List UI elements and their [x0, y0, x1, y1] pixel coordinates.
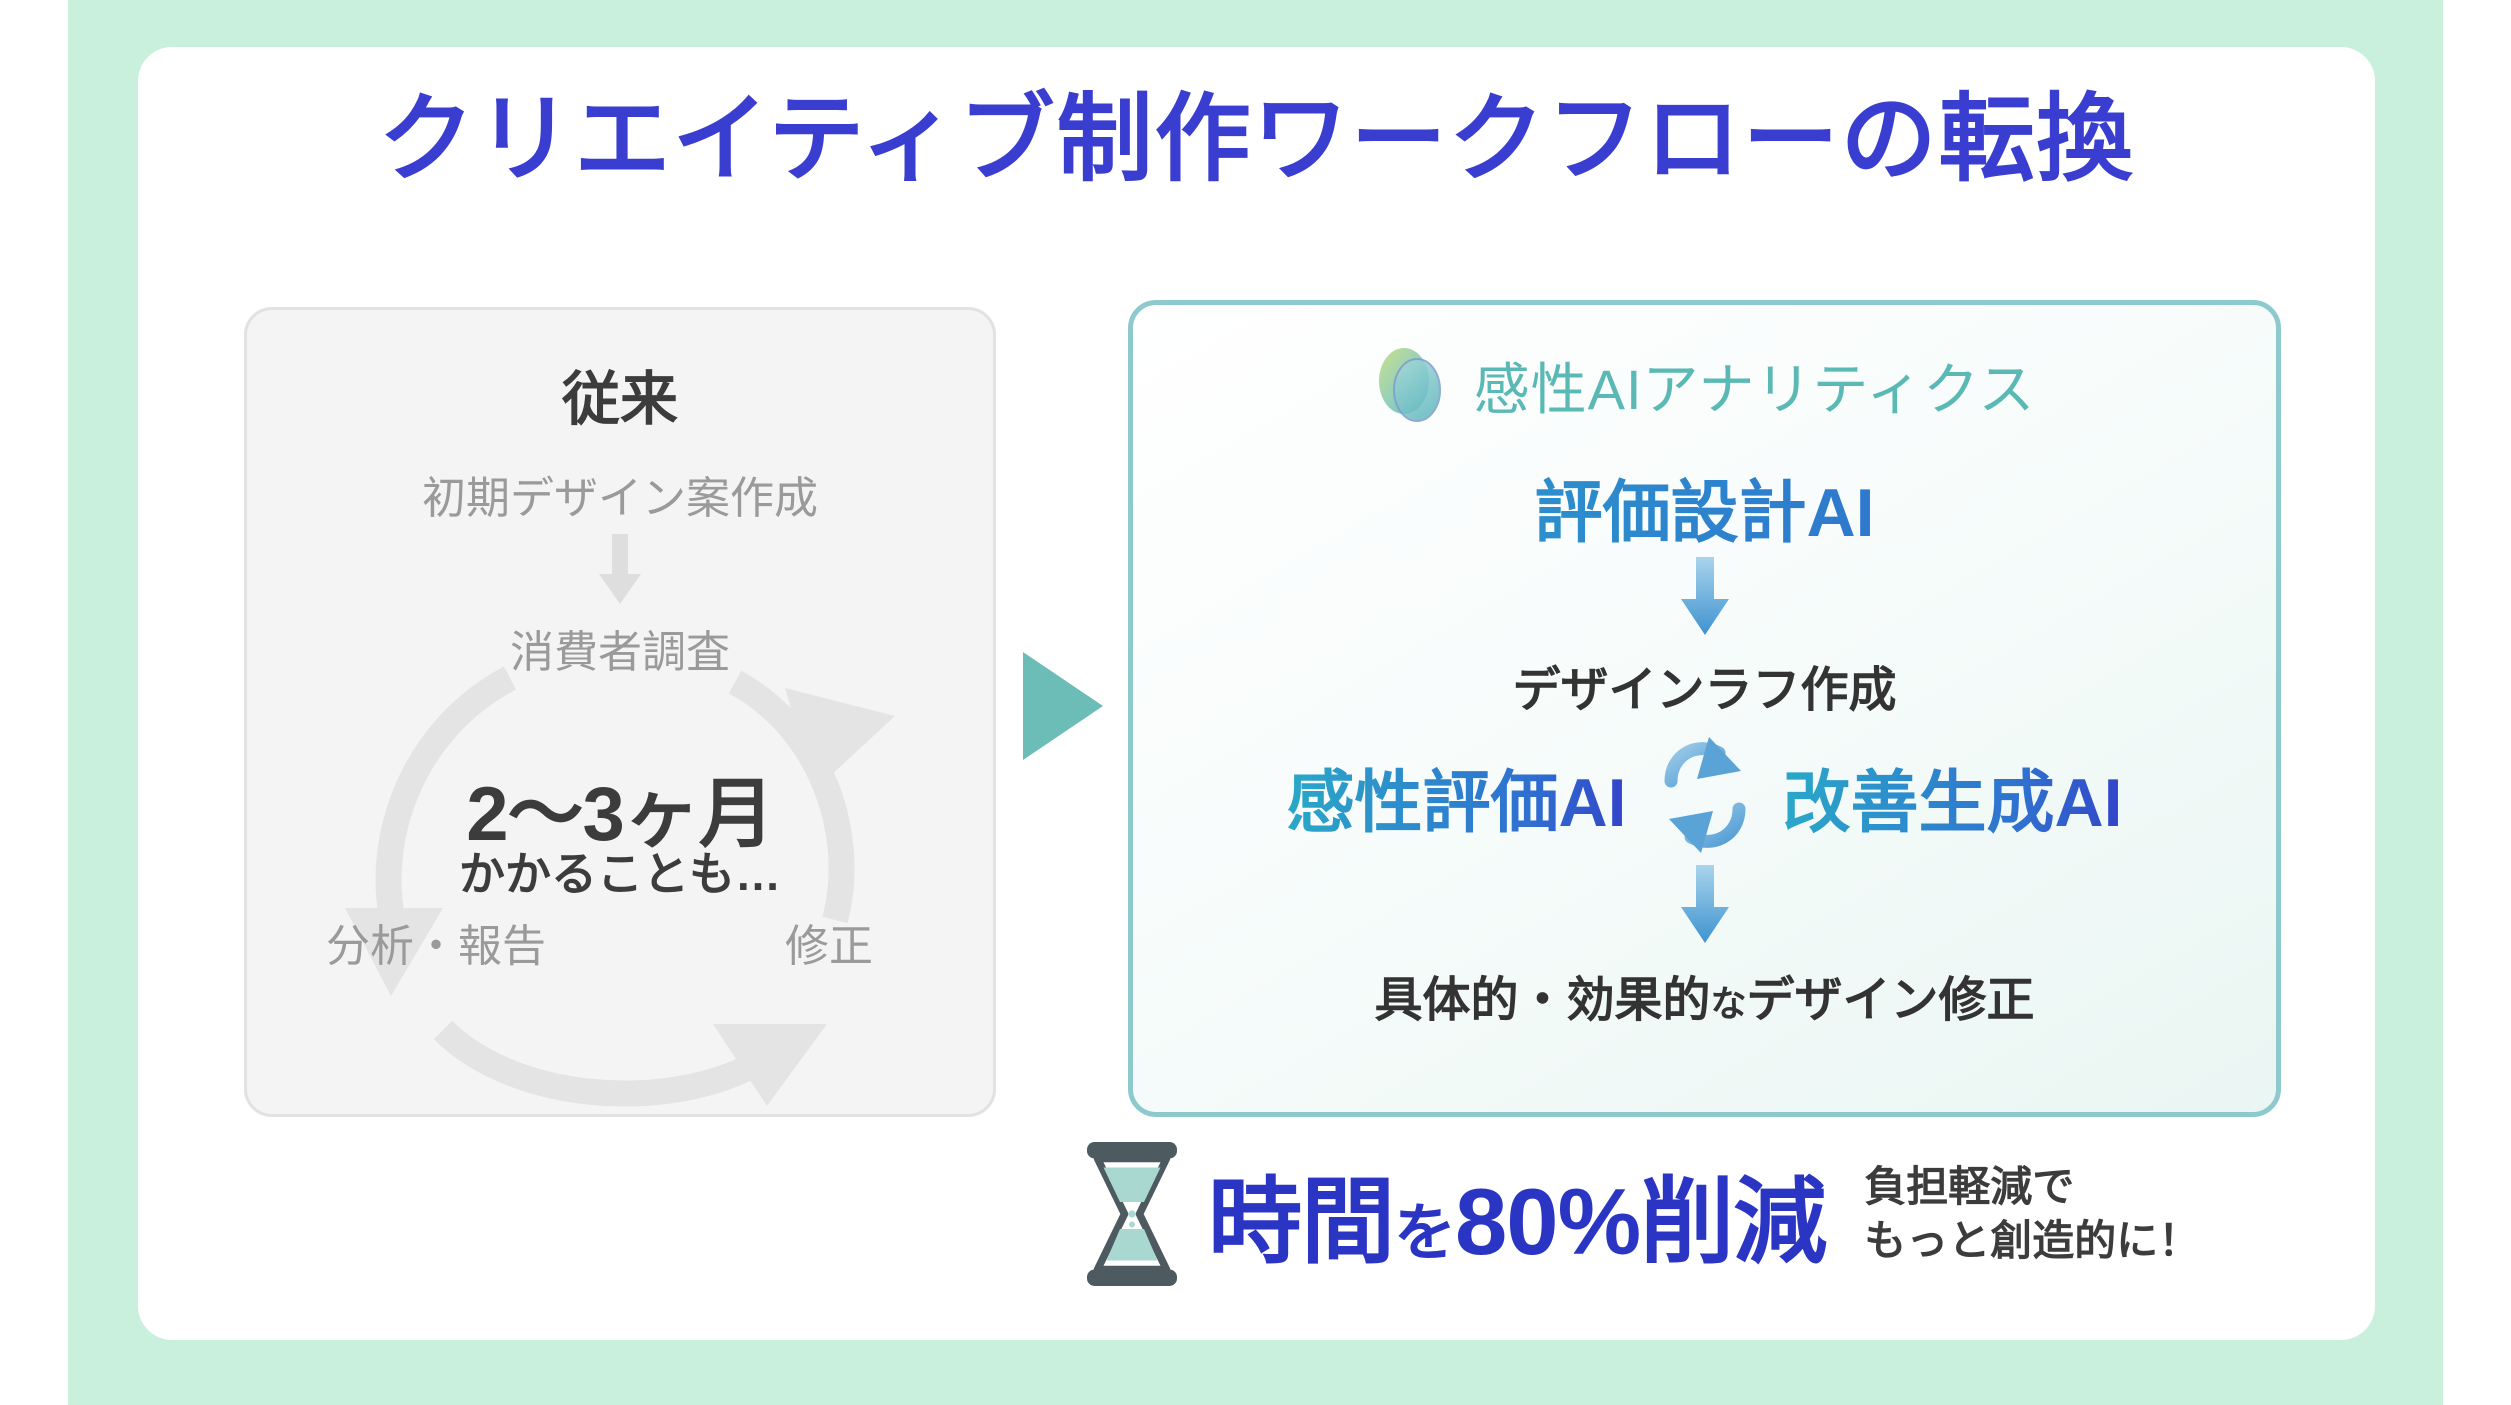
- ai-step-rough-design: デザインラフ作成: [1133, 650, 2276, 720]
- ai-loop-label-evaluation: 感性評価AI: [1286, 747, 1626, 846]
- page-title: クリエイティブ制作ワークフローの転換: [138, 86, 2375, 194]
- ai-step-result-main: 具体的・効果的: [1374, 974, 1710, 1027]
- benefit-note-line1: 負担軽減で: [1864, 1160, 2200, 1214]
- ai-loop-label-improvement: 改善生成AI: [1783, 747, 2123, 846]
- ai-step-evaluation-design: 評価設計AI: [1133, 457, 2276, 556]
- hourglass-icon: [1078, 1139, 1186, 1289]
- legacy-workflow-panel: 従来 初期デザイン案作成 消費者調査 2〜3ヶ月 かかることも… 分析・報告 修…: [244, 307, 996, 1117]
- arrow-down-icon: [593, 534, 647, 608]
- reduction-particle: を: [1394, 1199, 1455, 1268]
- reduction-prefix: 時間: [1208, 1169, 1394, 1274]
- time-reduction-headline: 時間を80%削減: [1208, 1146, 1826, 1282]
- legacy-step-initial-design: 初期デザイン案作成: [247, 462, 993, 526]
- reduction-suffix: 削減: [1640, 1169, 1826, 1274]
- legacy-label-analysis: 分析・報告: [271, 910, 601, 974]
- overlapping-circles-logo-icon: [1374, 343, 1448, 427]
- play-triangle-icon: [1023, 652, 1103, 760]
- arrow-down-icon: [1675, 557, 1735, 639]
- legacy-label-revision: 修正: [699, 910, 959, 974]
- ai-workflow-panel: 感性AIアナリティクス 評価設計AI デザインラフ作成 感性評価AI: [1128, 300, 2281, 1117]
- ai-brand-name: 感性AIアナリティクス: [1474, 345, 2036, 426]
- ai-step-result: 具体的・効果的なデザイン修正: [1133, 960, 2276, 1030]
- bottom-banner: 時間を80%削減 負担軽減で もっと創造的に！: [1078, 1139, 2200, 1289]
- legacy-duration-subtext: かかることも…: [247, 838, 993, 904]
- reduction-value: 80%: [1455, 1169, 1640, 1274]
- sync-loop-arrows-icon: [1653, 735, 1757, 857]
- arrow-down-icon: [1675, 865, 1735, 947]
- ai-step-result-tail: デザイン修正: [1747, 974, 2035, 1027]
- legacy-heading: 従来: [247, 352, 993, 436]
- ai-loop-row: 感性評価AI 改善生成AI: [1133, 735, 2276, 857]
- benefit-note-line2: もっと創造的に！: [1864, 1214, 2200, 1268]
- benefit-note: 負担軽減で もっと創造的に！: [1864, 1160, 2200, 1268]
- ai-step-result-particle: な: [1710, 983, 1746, 1024]
- ai-brand-row: 感性AIアナリティクス: [1133, 343, 2276, 427]
- slide-canvas: クリエイティブ制作ワークフローの転換 従来 初期デザイン案作成 消費者調査 2〜…: [0, 0, 2511, 1405]
